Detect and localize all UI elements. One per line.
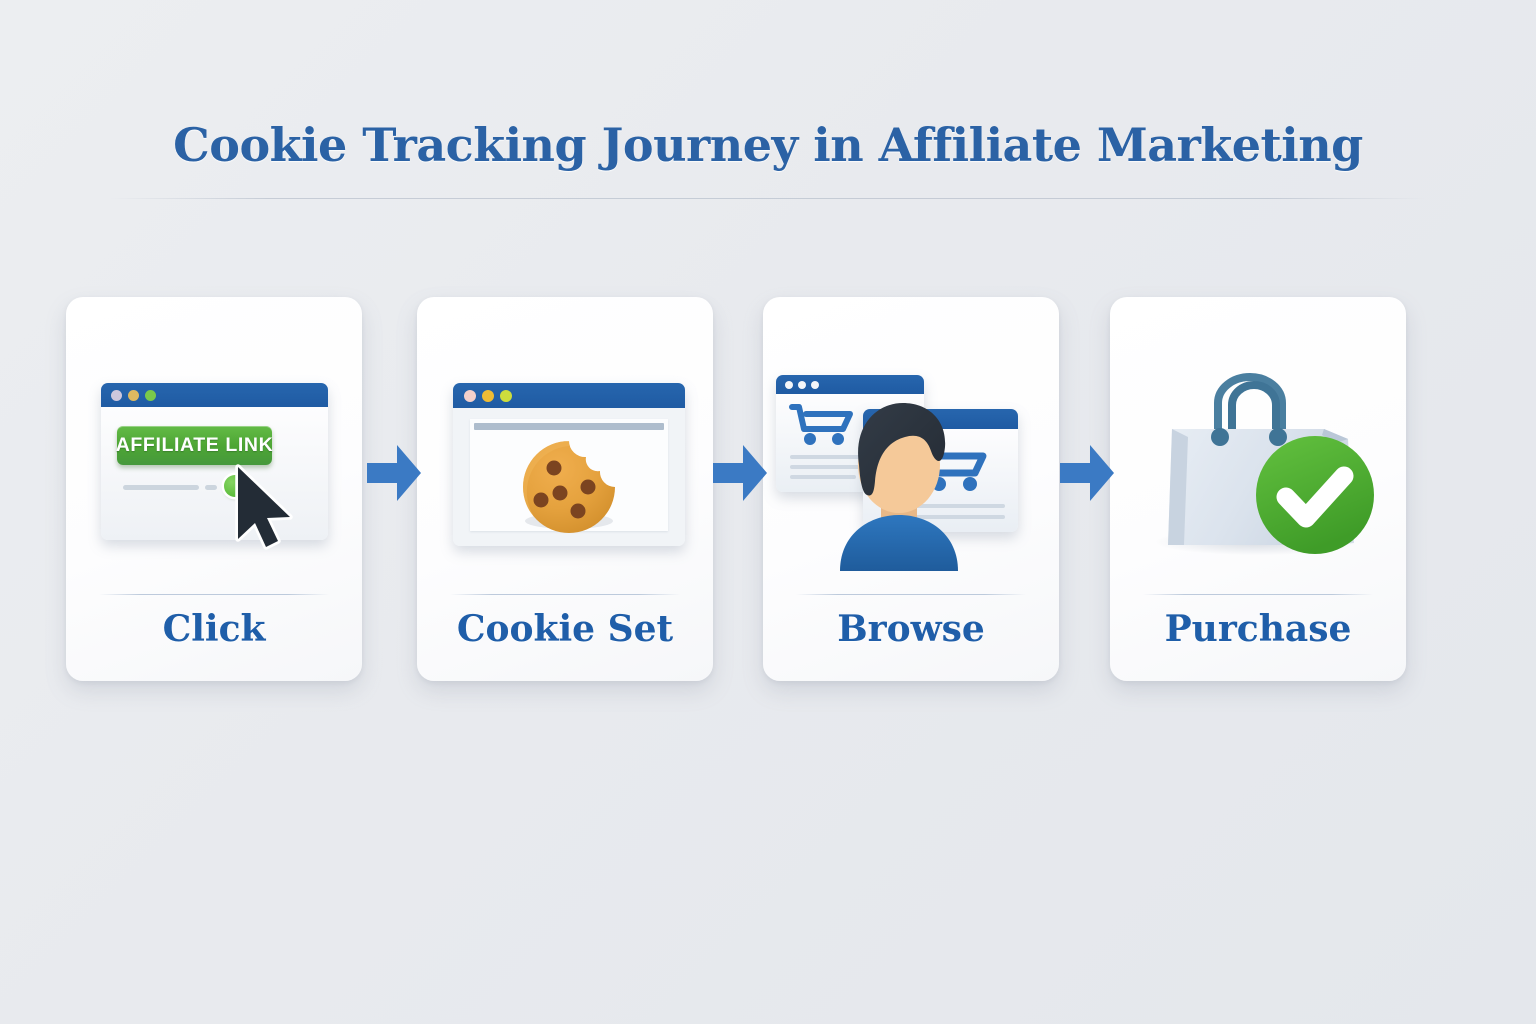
- flow-arrow-1-icon: [367, 443, 421, 503]
- page-title: Cookie Tracking Journey in Affiliate Mar…: [0, 118, 1536, 172]
- title-divider: [110, 198, 1426, 199]
- mouse-cursor-icon: [66, 297, 362, 597]
- flow-arrow-3-icon: [1060, 443, 1114, 503]
- step-card-cookie-set[interactable]: Cookie Set: [417, 297, 713, 681]
- step-card-click[interactable]: AFFILIATE LINK: [66, 297, 362, 681]
- card-divider: [796, 594, 1026, 595]
- person-avatar-icon: [763, 297, 1059, 597]
- infographic-canvas: Cookie Tracking Journey in Affiliate Mar…: [0, 0, 1536, 1024]
- browser-window-icon: [453, 383, 685, 546]
- cookie-icon: [453, 383, 685, 546]
- flow-arrow-2-icon: [713, 443, 767, 503]
- cookie-set-illustration: [417, 297, 713, 597]
- card-divider: [1143, 594, 1373, 595]
- step-label-purchase: Purchase: [1110, 608, 1406, 650]
- step-label-click: Click: [66, 608, 362, 650]
- step-label-cookie-set: Cookie Set: [417, 608, 713, 650]
- browse-illustration: [763, 297, 1059, 597]
- purchase-illustration: [1110, 297, 1406, 597]
- step-label-browse: Browse: [763, 608, 1059, 650]
- card-divider: [450, 594, 680, 595]
- card-divider: [99, 594, 329, 595]
- step-card-purchase[interactable]: Purchase: [1110, 297, 1406, 681]
- step-card-browse[interactable]: Browse: [763, 297, 1059, 681]
- click-illustration: AFFILIATE LINK: [66, 297, 362, 597]
- shopping-bag-icon: [1110, 297, 1406, 597]
